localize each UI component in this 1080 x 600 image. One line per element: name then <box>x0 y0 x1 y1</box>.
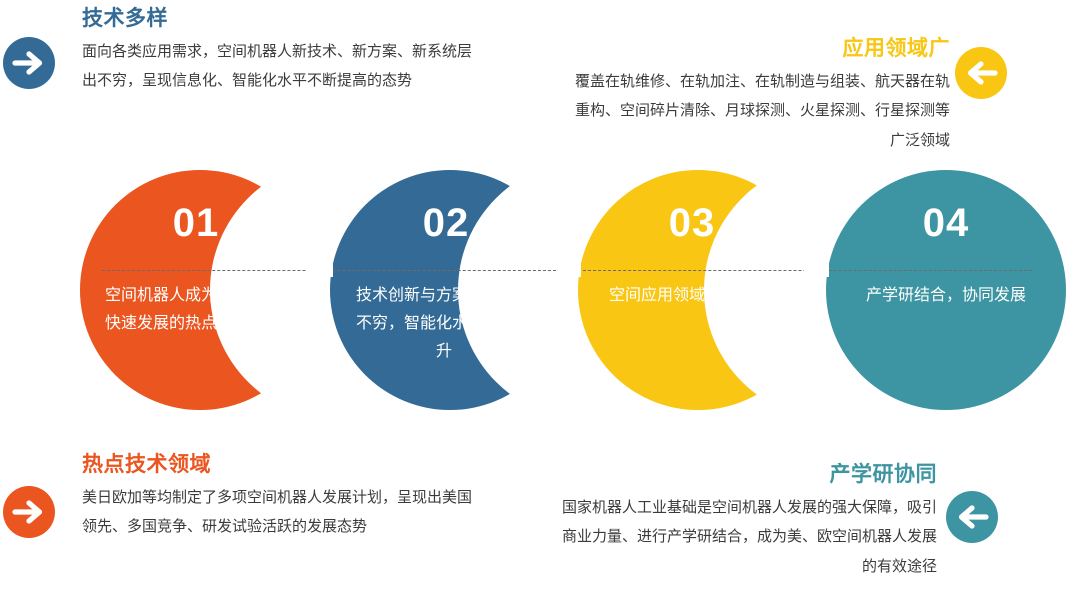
arrow-left-icon-bottom-right <box>946 491 998 543</box>
dash-gap-3 <box>804 264 829 277</box>
callout-heading-top-right: 应用领域广 <box>565 36 950 61</box>
step-circle-03[interactable]: 03 空间应用领域不断扩展 <box>578 170 818 410</box>
infographic-canvas: 技术多样 面向各类应用需求，空间机器人新技术、新方案、新系统层出不穷，呈现信息化… <box>0 0 1080 600</box>
callout-bottom-left: 热点技术领域 美日欧加等均制定了多项空间机器人发展计划，呈现出美国领先、多国竞争… <box>82 452 482 542</box>
arrow-left-icon-top-right <box>955 47 1007 99</box>
callout-body-bottom-left: 美日欧加等均制定了多项空间机器人发展计划，呈现出美国领先、多国竞争、研发试验活跃… <box>82 483 482 542</box>
step-circle-04[interactable]: 04 产学研结合，协同发展 <box>826 170 1066 410</box>
callout-top-right: 应用领域广 覆盖在轨维修、在轨加注、在轨制造与组装、航天器在轨重构、空间碎片清除… <box>565 36 950 155</box>
callout-body-top-right: 覆盖在轨维修、在轨加注、在轨制造与组装、航天器在轨重构、空间碎片清除、月球探测、… <box>565 67 950 155</box>
step-shape-01 <box>80 170 320 410</box>
callout-heading-bottom-right: 产学研协同 <box>552 462 937 487</box>
callout-heading-bottom-left: 热点技术领域 <box>82 452 482 477</box>
callout-bottom-right: 产学研协同 国家机器人工业基础是空间机器人发展的强大保障，吸引商业力量、进行产学… <box>552 462 937 581</box>
step-shape-04 <box>826 170 1066 410</box>
arrow-right-icon-bottom-left <box>3 486 55 538</box>
step-circle-02[interactable]: 02 技术创新与方案创新层出不穷，智能化水平不断提升 <box>330 170 570 410</box>
step-circle-01[interactable]: 01 空间机器人成为全球航天快速发展的热点技术领域 <box>80 170 320 410</box>
callout-top-left: 技术多样 面向各类应用需求，空间机器人新技术、新方案、新系统层出不穷，呈现信息化… <box>82 6 482 96</box>
step-shape-03 <box>578 170 818 410</box>
callout-body-bottom-right: 国家机器人工业基础是空间机器人发展的强大保障，吸引商业力量、进行产学研结合，成为… <box>552 493 937 581</box>
step-shape-02 <box>330 170 570 410</box>
dash-gap-2 <box>556 264 581 277</box>
arrow-right-icon-top-left <box>3 37 55 89</box>
step-circle-row: 01 空间机器人成为全球航天快速发展的热点技术领域 02 <box>0 170 1080 435</box>
dash-gap-1 <box>307 264 333 277</box>
callout-heading-top-left: 技术多样 <box>82 6 482 31</box>
callout-body-top-left: 面向各类应用需求，空间机器人新技术、新方案、新系统层出不穷，呈现信息化、智能化水… <box>82 37 482 96</box>
